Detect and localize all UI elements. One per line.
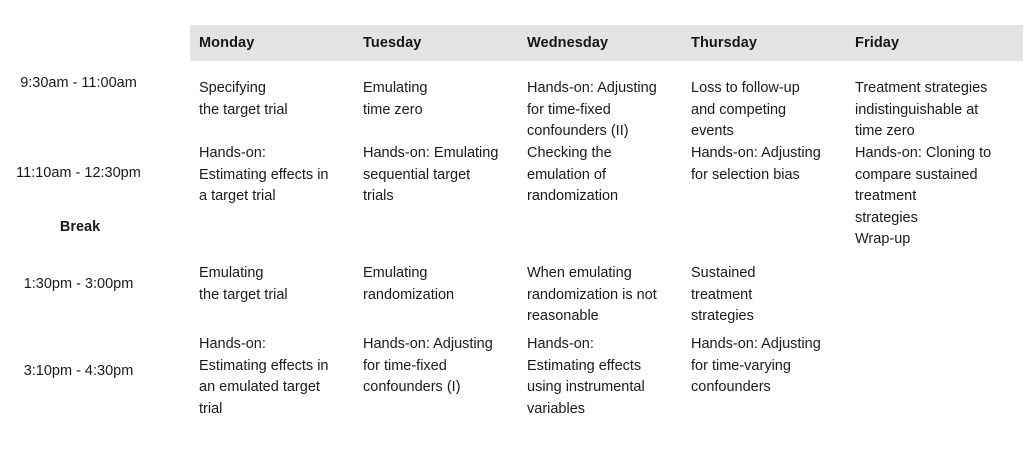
session-cell-tuesday: Hands-on: Adjusting for time-fixed confo… bbox=[354, 328, 518, 424]
session-cell-tuesday: Emulating randomization bbox=[354, 251, 518, 328]
session-cell-wednesday: Hands-on: Estimating effects using instr… bbox=[518, 328, 682, 424]
schedule-rows: 9:30am - 11:00am Specifying the target t… bbox=[0, 61, 1024, 424]
session-cell-wednesday: Checking the emulation of randomization bbox=[518, 139, 682, 211]
session-cell-friday bbox=[846, 328, 1010, 424]
table-row: 1:30pm - 3:00pm Emulating the target tri… bbox=[0, 251, 1024, 328]
session-cell-thursday: Hands-on: Adjusting for time-varying con… bbox=[682, 328, 846, 424]
session-cell-thursday: Loss to follow-up and competing events bbox=[682, 61, 846, 139]
column-header-thursday: Thursday bbox=[682, 25, 846, 61]
column-header-friday: Friday bbox=[846, 25, 1010, 61]
session-cell-tuesday: Emulating time zero bbox=[354, 61, 518, 139]
time-slot-label: 11:10am - 12:30pm bbox=[0, 139, 190, 211]
break-label: Break bbox=[0, 219, 190, 235]
session-cell-monday: Specifying the target trial bbox=[190, 61, 354, 139]
break-row: Break bbox=[0, 211, 1024, 251]
column-header-tuesday: Tuesday bbox=[354, 25, 518, 61]
table-row: 9:30am - 11:00am Specifying the target t… bbox=[0, 61, 1024, 139]
session-cell-thursday: Hands-on: Adjusting for selection bias bbox=[682, 139, 846, 211]
table-row: 11:10am - 12:30pm Hands-on: Estimating e… bbox=[0, 139, 1024, 211]
column-header-wednesday: Wednesday bbox=[518, 25, 682, 61]
table-row: 3:10pm - 4:30pm Hands-on: Estimating eff… bbox=[0, 328, 1024, 424]
time-slot-label: 1:30pm - 3:00pm bbox=[0, 251, 190, 328]
time-slot-label: 9:30am - 11:00am bbox=[0, 61, 190, 139]
column-header-monday: Monday bbox=[190, 25, 354, 61]
time-slot-label: 3:10pm - 4:30pm bbox=[0, 328, 190, 424]
session-cell-monday: Hands-on: Estimating effects in a target… bbox=[190, 139, 354, 211]
session-cell-wednesday: Hands-on: Adjusting for time-fixed confo… bbox=[518, 61, 682, 139]
session-cell-friday: Treatment strategies indistinguishable a… bbox=[846, 61, 1010, 139]
day-header-row: Monday Tuesday Wednesday Thursday Friday bbox=[190, 25, 1023, 61]
session-cell-friday bbox=[846, 251, 1010, 328]
weekly-schedule-table: Monday Tuesday Wednesday Thursday Friday… bbox=[0, 0, 1024, 462]
session-cell-friday: Hands-on: Cloning to compare sustained t… bbox=[846, 139, 1010, 211]
session-cell-tuesday: Hands-on: Emulating sequential target tr… bbox=[354, 139, 518, 211]
session-cell-monday: Hands-on: Estimating effects in an emula… bbox=[190, 328, 354, 424]
session-cell-monday: Emulating the target trial bbox=[190, 251, 354, 328]
session-cell-thursday: Sustained treatment strategies bbox=[682, 251, 846, 328]
session-cell-wednesday: When emulating randomization is not reas… bbox=[518, 251, 682, 328]
